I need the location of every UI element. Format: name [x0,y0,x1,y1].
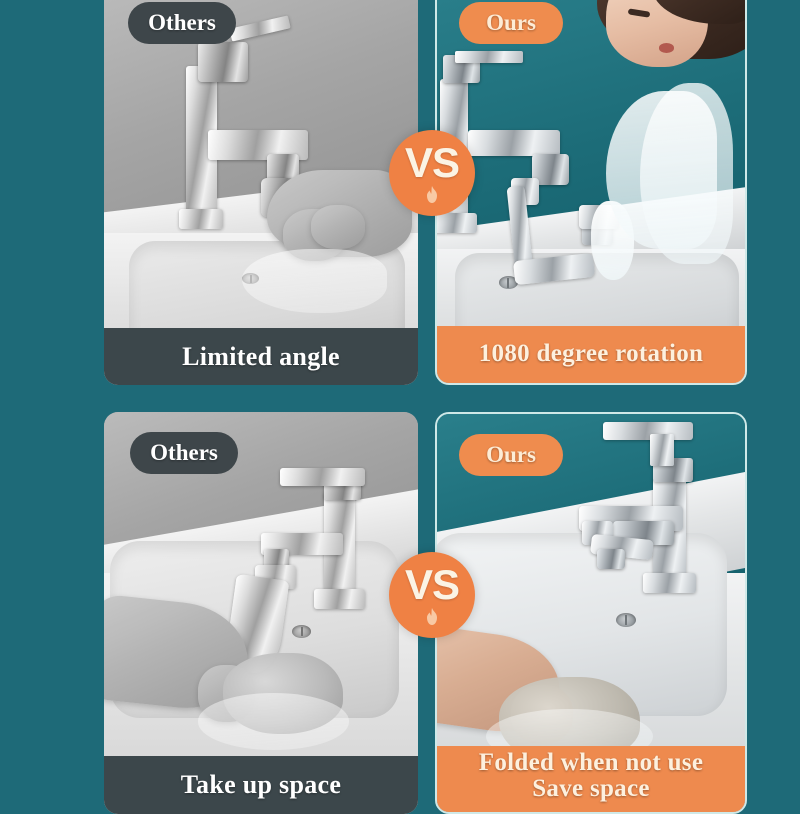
flame-icon [424,608,440,627]
vs-badge-top: VS [389,130,475,216]
badge-label: Others [150,440,218,466]
vs-label: VS [405,564,459,606]
badge-label: Ours [486,442,536,468]
caption-bottom-right: Folded when not use Save space [437,746,745,812]
comparison-infographic: Others Limited angle [0,0,800,800]
panel-top-right-ours: Ours 1080 degree rotation [435,0,747,385]
badge-others-top: Others [128,2,236,44]
caption-bottom-left: Take up space [104,756,418,814]
badge-others-bottom: Others [130,432,238,474]
caption-line: Take up space [181,771,341,798]
caption-line: Folded when not use [479,750,704,776]
vs-badge-bottom: VS [389,552,475,638]
badge-ours-bottom: Ours [459,434,563,476]
caption-line: 1080 degree rotation [479,341,703,367]
vs-label: VS [405,142,459,184]
caption-top-right: 1080 degree rotation [437,326,745,383]
caption-top-left: Limited angle [104,328,418,385]
panel-top-left-others: Others Limited angle [104,0,418,385]
flame-icon [424,186,440,205]
badge-label: Others [148,10,216,36]
badge-label: Ours [486,10,536,36]
caption-line: Limited angle [182,343,340,370]
caption-line: Save space [532,776,650,802]
panel-bottom-right-ours: Ours Folded when not use Save space [435,412,747,814]
badge-ours-top: Ours [459,2,563,44]
panel-bottom-left-others: Others Take up space [104,412,418,814]
